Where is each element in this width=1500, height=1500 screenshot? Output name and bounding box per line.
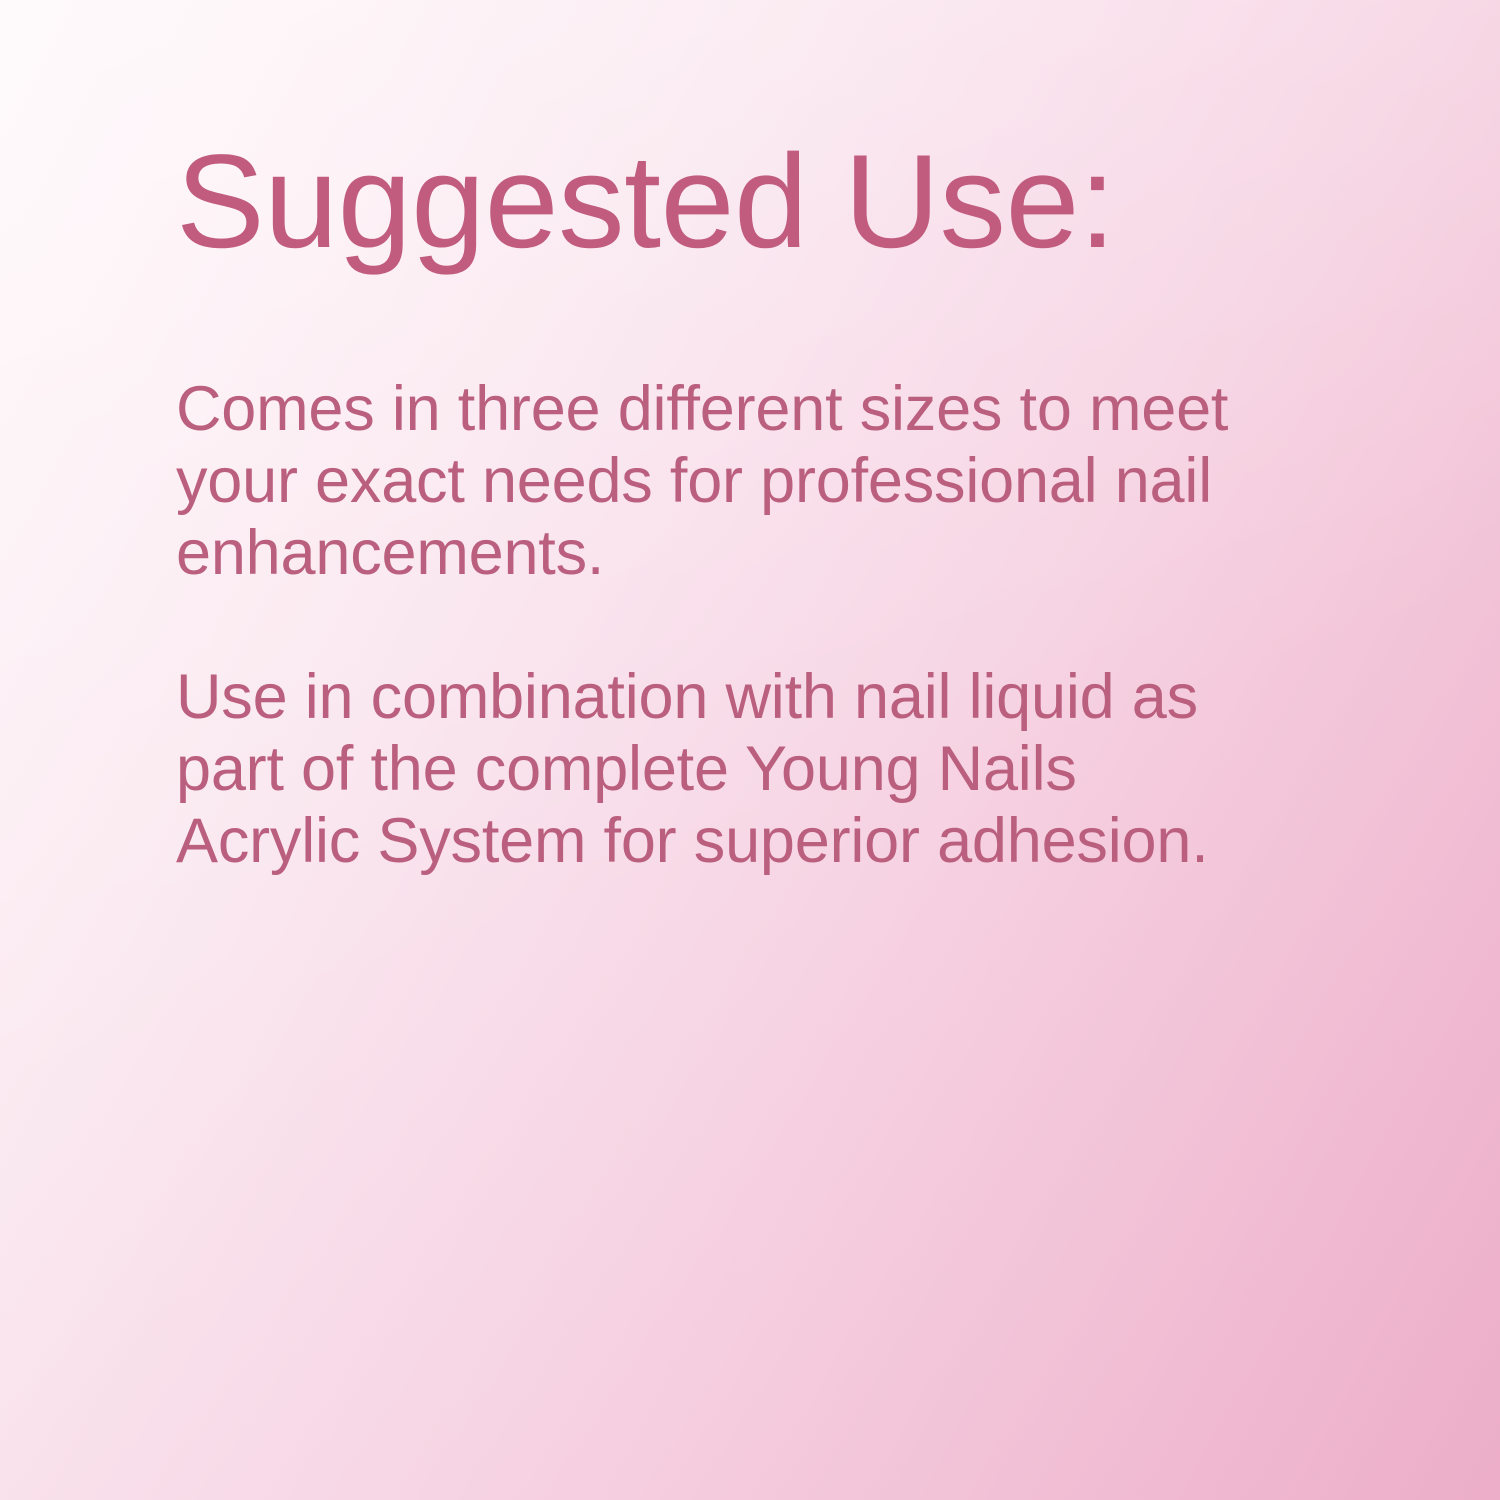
product-info-card: Suggested Use: Comes in three different … [0, 0, 1500, 1500]
page-title: Suggested Use: [176, 132, 1286, 273]
body-paragraph-usage: Use in combination with nail liquid as p… [176, 661, 1261, 877]
body-paragraph-sizes: Comes in three different sizes to meet y… [176, 373, 1261, 589]
content-block: Suggested Use: Comes in three different … [176, 132, 1286, 877]
body-copy: Comes in three different sizes to meet y… [176, 373, 1286, 877]
